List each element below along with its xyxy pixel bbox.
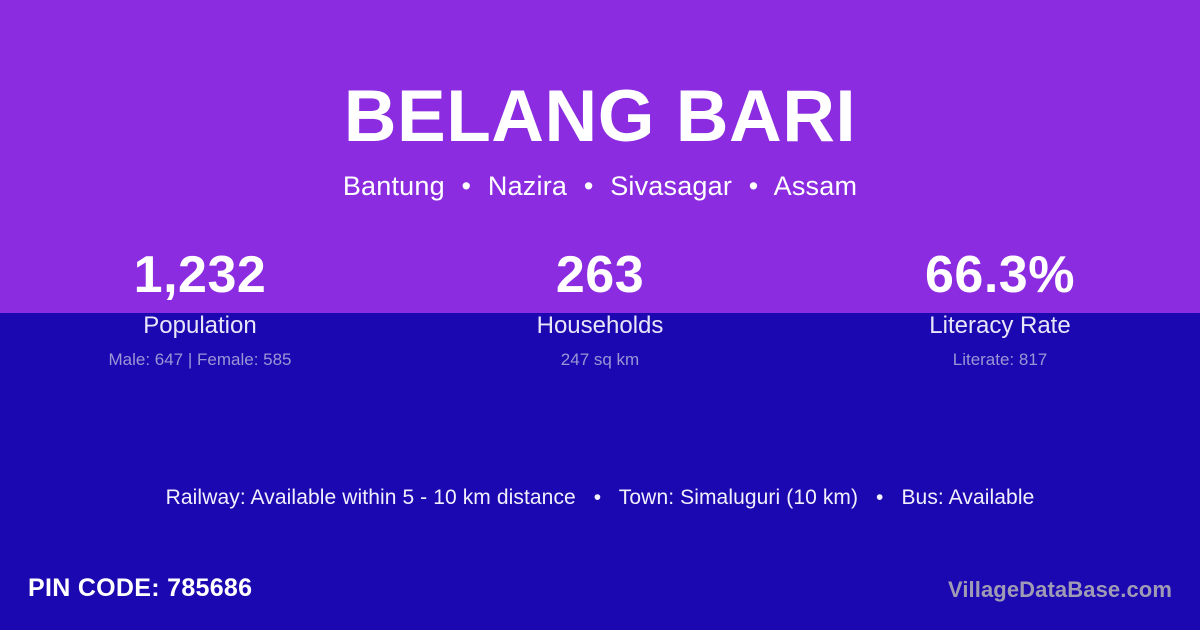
breadcrumb-item-state: Assam <box>774 171 858 201</box>
stat-label: Households <box>400 312 800 341</box>
breadcrumb-item-village: Bantung <box>343 171 445 201</box>
stat-label: Population <box>0 312 400 341</box>
breadcrumb-item-district: Sivasagar <box>610 171 732 201</box>
stat-value: 1,232 <box>0 248 400 303</box>
facility-town: Town: Simaluguri (10 km) <box>619 486 858 509</box>
title-block: BELANG BARI Bantung • Nazira • Sivasagar… <box>0 0 1200 202</box>
facility-separator: • <box>864 486 895 510</box>
stat-literacy-rate: 66.3% Literacy Rate Literate: 817 <box>800 248 1200 371</box>
breadcrumb-separator: • <box>740 171 768 202</box>
pin-code: PIN CODE: 785686 <box>28 574 252 603</box>
page-title: BELANG BARI <box>0 78 1200 155</box>
stat-value: 263 <box>400 248 800 303</box>
facility-railway: Railway: Available within 5 - 10 km dist… <box>166 486 576 509</box>
facility-separator: • <box>582 486 613 510</box>
facility-bus: Bus: Available <box>901 486 1034 509</box>
stat-households: 263 Households 247 sq km <box>400 248 800 371</box>
footer: PIN CODE: 785686 VillageDataBase.com <box>0 560 1200 630</box>
breadcrumb-separator: • <box>453 171 481 202</box>
site-brand: VillageDataBase.com <box>948 577 1172 603</box>
stat-value: 66.3% <box>800 248 1200 303</box>
stat-subtext: 247 sq km <box>400 350 800 370</box>
village-info-card: BELANG BARI Bantung • Nazira • Sivasagar… <box>0 0 1200 630</box>
facilities-line: Railway: Available within 5 - 10 km dist… <box>0 486 1200 510</box>
breadcrumb: Bantung • Nazira • Sivasagar • Assam <box>0 171 1200 202</box>
breadcrumb-item-block: Nazira <box>488 171 567 201</box>
stat-population: 1,232 Population Male: 647 | Female: 585 <box>0 248 400 371</box>
stat-subtext: Literate: 817 <box>800 350 1200 370</box>
stat-subtext: Male: 647 | Female: 585 <box>0 350 400 370</box>
stats-row: 1,232 Population Male: 647 | Female: 585… <box>0 248 1200 371</box>
breadcrumb-separator: • <box>575 171 603 202</box>
stat-label: Literacy Rate <box>800 312 1200 341</box>
